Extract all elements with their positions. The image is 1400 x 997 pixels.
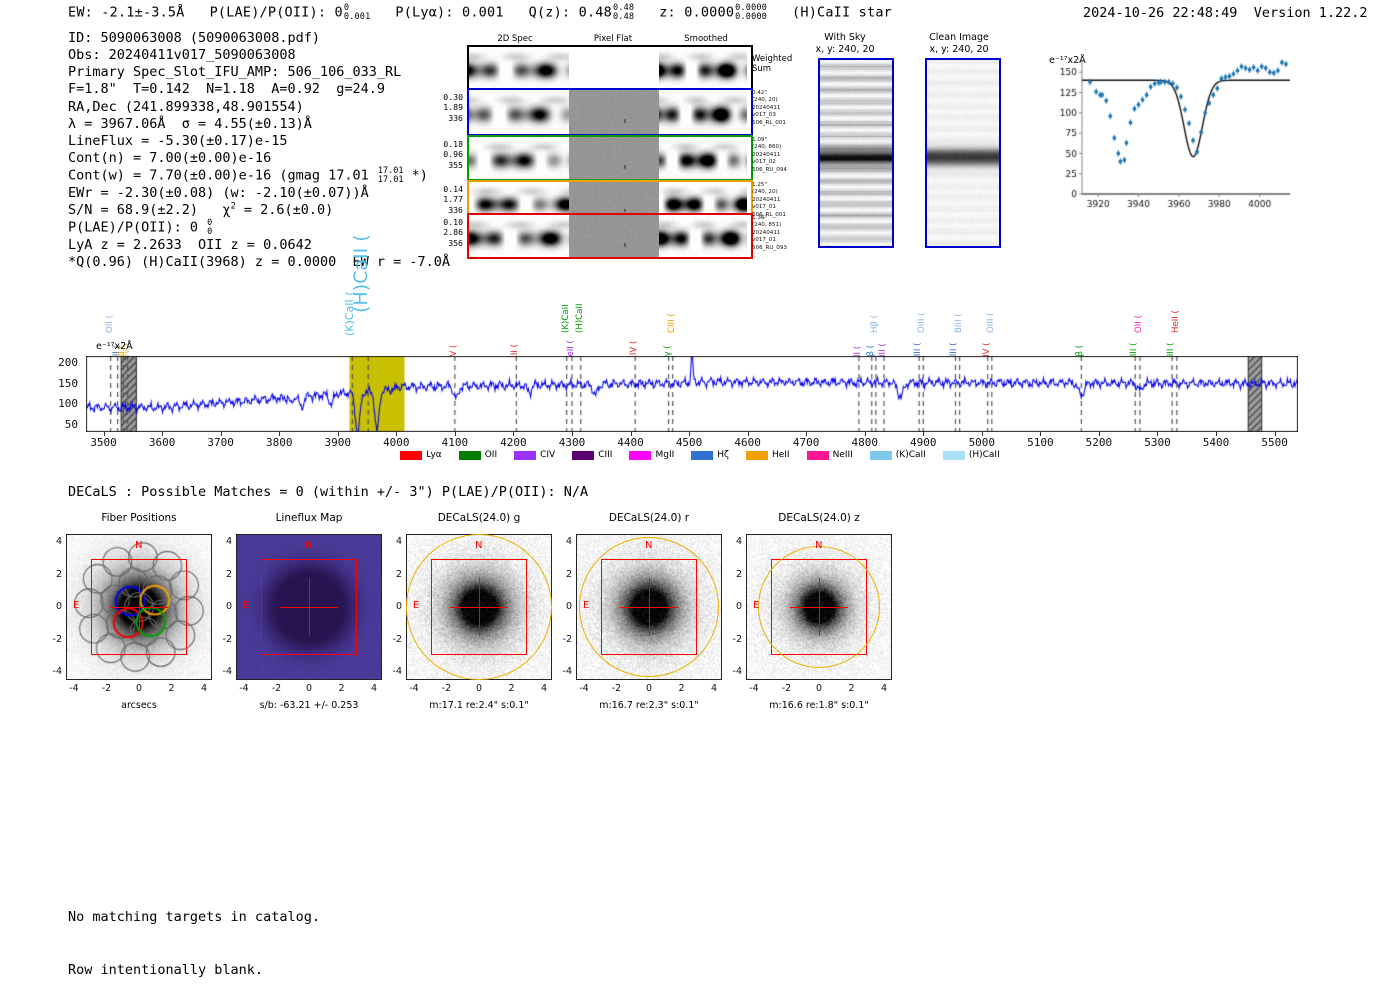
line-fit-plot	[1040, 48, 1298, 220]
decals-x-tick: 4	[873, 683, 895, 694]
legend-swatch	[746, 451, 768, 460]
spectrum-x-tick: 4300	[553, 436, 591, 449]
spectrum-x-tick: 5200	[1080, 436, 1118, 449]
decals-crosshair-v	[139, 578, 140, 636]
decals-panel-title: DECaLS(24.0) r	[569, 512, 729, 524]
header-datetime: 2024-10-26 22:48:49	[1083, 5, 1237, 21]
decals-panel-caption: m:16.6 re:1.8" s:0.1"	[719, 700, 919, 711]
legend-label: HeII	[772, 450, 790, 460]
spectrum-x-tick: 3600	[143, 436, 181, 449]
footer-line-2: Row intentionally blank.	[68, 962, 320, 980]
spectrum-x-tick: 5300	[1138, 436, 1176, 449]
twod-right-meta: 1.25"(240, 20)20240411v017_01506_RL_001	[752, 182, 812, 219]
decals-panel-title: DECaLS(24.0) z	[739, 512, 899, 524]
legend-label: (K)CaII	[896, 450, 926, 460]
header-z-label: z:	[659, 5, 676, 21]
decals-y-tick: 2	[212, 569, 232, 580]
decals-x-tick: 2	[671, 683, 693, 694]
spectrum-y-tick: 100	[58, 397, 78, 410]
legend-label: NeIII	[833, 450, 853, 460]
decals-y-tick: 4	[212, 536, 232, 547]
header-z-script: 0.00000.0000	[735, 4, 767, 21]
emission-line-label: HeII (	[1171, 310, 1181, 333]
info-obs: Obs: 20240411v017_5090063008	[68, 47, 450, 64]
decals-x-tick: 2	[161, 683, 183, 694]
header-summary-line: EW: -2.1±-3.5Å P(LAE)/P(OII): 000.001 P(…	[68, 4, 892, 21]
decals-y-tick: -4	[42, 666, 62, 677]
header-qz-value: 0.48	[579, 5, 612, 21]
spectrum-x-tick: 5500	[1256, 436, 1294, 449]
legend-item: MgII	[629, 450, 674, 460]
header-ew: EW: -2.1±-3.5Å	[68, 5, 185, 21]
decals-x-tick: -2	[266, 683, 288, 694]
spectrum-x-tick: 5100	[1021, 436, 1059, 449]
header-qz-script: 0.480.48	[613, 4, 634, 21]
decals-y-tick: 0	[382, 601, 402, 612]
twod-right-meta: 1.36"(240, 851)20240411v017_01506_RU_093	[752, 215, 812, 252]
legend-swatch	[629, 451, 651, 460]
info-ewr: EWr = -2.30(±0.08) (w: -2.10(±0.07))Å	[68, 185, 450, 202]
decals-x-tick: -4	[233, 683, 255, 694]
decals-x-tick: 0	[298, 683, 320, 694]
info-cont-n: Cont(n) = 7.00(±0.00)e-16	[68, 150, 450, 167]
emission-line-label: (K)CaII	[561, 304, 571, 333]
spectrum-legend: LyαOIICIVCIIIMgIIHζHeIINeIII(K)CaII(H)Ca…	[0, 450, 1400, 460]
info-lineflux: LineFlux = -5.30(±0.17)e-15	[68, 133, 450, 150]
decals-x-tick: 0	[128, 683, 150, 694]
decals-y-tick: 0	[552, 601, 572, 612]
footer-message: No matching targets in catalog. Row inte…	[68, 874, 320, 997]
info-plae-poii: P(LAE)/P(OII): 0 00	[68, 219, 450, 237]
legend-item: (K)CaII	[870, 450, 926, 460]
header-plae-value: 0	[335, 5, 343, 21]
footer-line-1: No matching targets in catalog.	[68, 909, 320, 927]
fit-plot-yunit: e⁻¹⁷x2Å	[1049, 55, 1086, 66]
header-plae-label: P(LAE)/P(OII):	[210, 5, 327, 21]
emission-line-label: OII (	[1134, 315, 1144, 333]
decals-y-tick: -2	[552, 634, 572, 645]
decals-east-label: E	[753, 600, 759, 611]
decals-x-tick: 0	[638, 683, 660, 694]
emission-line-label: OIII (	[917, 313, 927, 333]
spectrum-x-tick: 5000	[963, 436, 1001, 449]
decals-y-tick: 0	[212, 601, 232, 612]
twod-strip	[467, 135, 753, 181]
decals-x-tick: 2	[501, 683, 523, 694]
decals-x-tick: -4	[63, 683, 85, 694]
spectrum-x-tick: 3500	[85, 436, 123, 449]
info-seeing: F=1.8" T=0.142 N=1.18 A=0.92 g=24.9	[68, 81, 450, 98]
header-classification: (H)CaII star	[792, 5, 892, 21]
legend-label: MgII	[655, 450, 674, 460]
twod-strip	[467, 88, 753, 136]
twod-col-title-2dspec: 2D Spec	[470, 34, 560, 44]
legend-swatch	[807, 451, 829, 460]
legend-item: OII	[459, 450, 497, 460]
emission-line-label: OII (	[105, 315, 115, 333]
decals-x-tick: 4	[193, 683, 215, 694]
emission-line-labels: OII (OII (OII (CIV ((K)CaII ((H)CaII (NV…	[0, 255, 1400, 355]
header-timestamp-version: 2024-10-26 22:48:49 Version 1.22.2	[1083, 5, 1368, 21]
decals-x-tick: 4	[363, 683, 385, 694]
decals-x-tick: -2	[776, 683, 798, 694]
decals-y-tick: 2	[722, 569, 742, 580]
decals-x-tick: -4	[573, 683, 595, 694]
info-cont-w: Cont(w) = 7.70(±0.00)e-16 (gmag 17.01 17…	[68, 167, 450, 185]
decals-panel-title: DECaLS(24.0) g	[399, 512, 559, 524]
legend-label: CIII	[598, 450, 612, 460]
emission-line-label: OIII (	[986, 313, 996, 333]
decals-y-tick: -2	[382, 634, 402, 645]
info-primary-spec: Primary Spec_Slot_IFU_AMP: 506_106_033_R…	[68, 64, 450, 81]
decals-east-label: E	[73, 600, 79, 611]
cutout-withsky-title: With Skyx, y: 240, 20	[790, 32, 900, 55]
decals-east-label: E	[583, 600, 589, 611]
cutout-clean-image	[925, 58, 1001, 248]
legend-swatch	[514, 451, 536, 460]
decals-north-label: N	[475, 540, 482, 551]
legend-item: CIII	[572, 450, 612, 460]
header-plya-value: 0.001	[462, 5, 504, 21]
decals-x-tick: -2	[606, 683, 628, 694]
legend-swatch	[870, 451, 892, 460]
spectrum-y-tick: 150	[58, 377, 78, 390]
source-info-block: ID: 5090063008 (5090063008.pdf) Obs: 202…	[68, 30, 450, 272]
decals-x-tick: -2	[96, 683, 118, 694]
decals-x-tick: 4	[703, 683, 725, 694]
cutout-clean-title: Clean Imagex, y: 240, 20	[900, 32, 1018, 55]
decals-crosshair-v	[309, 578, 310, 636]
decals-y-tick: 0	[42, 601, 62, 612]
decals-y-tick: 4	[722, 536, 742, 547]
decals-x-tick: -4	[743, 683, 765, 694]
decals-y-tick: -4	[382, 666, 402, 677]
info-sn-chi2: S/N = 68.9(±2.2) χ2 = 2.6(±0.0)	[68, 202, 450, 219]
decals-y-tick: -2	[212, 634, 232, 645]
emission-line-label: CIII (	[667, 313, 677, 333]
legend-label: Lyα	[426, 450, 441, 460]
legend-item: CIV	[514, 450, 555, 460]
legend-item: (H)CaII	[943, 450, 1000, 460]
spectrum-y-tick: 50	[65, 418, 78, 431]
cutout-withsky-image	[818, 58, 894, 248]
spectrum-y-ticks: 50100150200	[0, 356, 86, 432]
spectrum-x-tick: 4100	[436, 436, 474, 449]
decals-y-tick: 2	[382, 569, 402, 580]
legend-item: Hζ	[691, 450, 729, 460]
twod-col-title-smoothed: Smoothed	[661, 34, 751, 44]
header-z-value: 0.0000	[684, 5, 734, 21]
spectrum-yunit: e⁻¹⁷x2Å	[96, 341, 133, 352]
decals-east-label: E	[243, 600, 249, 611]
decals-y-tick: 2	[42, 569, 62, 580]
spectrum-x-tick: 3700	[202, 436, 240, 449]
emission-line-label: BIII (	[954, 313, 964, 333]
header-plae-script: 00.001	[344, 4, 371, 21]
decals-y-tick: 4	[382, 536, 402, 547]
decals-north-label: N	[815, 540, 822, 551]
decals-x-tick: -4	[403, 683, 425, 694]
decals-east-label: E	[413, 600, 419, 611]
decals-effective-radius-ellipse	[579, 537, 719, 677]
twod-weighted-sum-strip	[467, 45, 753, 91]
spectrum-x-tick: 4800	[846, 436, 884, 449]
decals-x-tick: 0	[468, 683, 490, 694]
emission-line-label: (H)CaII (	[350, 234, 372, 313]
decals-effective-radius-ellipse	[406, 534, 552, 680]
info-redshifts: LyA z = 2.2633 OII z = 0.0642	[68, 237, 450, 254]
spectrum-x-tick: 4600	[729, 436, 767, 449]
decals-x-tick: 0	[808, 683, 830, 694]
decals-panel-title: Fiber Positions	[59, 512, 219, 524]
legend-swatch	[943, 451, 965, 460]
legend-label: OII	[485, 450, 497, 460]
decals-y-tick: 4	[42, 536, 62, 547]
decals-x-tick: 2	[841, 683, 863, 694]
info-id: ID: 5090063008 (5090063008.pdf)	[68, 30, 450, 47]
twod-weighted-sum-label: Weighted Sum	[752, 54, 792, 74]
spectrum-x-tick: 4200	[494, 436, 532, 449]
decals-y-tick: -4	[212, 666, 232, 677]
decals-north-label: N	[305, 540, 312, 551]
emission-line-label: Hβ (	[870, 315, 880, 333]
twod-right-meta: 0.42"(240, 20)20240411v017_03506_RL_001	[752, 90, 812, 127]
legend-swatch	[691, 451, 713, 460]
decals-x-tick: -2	[436, 683, 458, 694]
header-plya-label: P(Lyα):	[395, 5, 453, 21]
decals-north-label: N	[135, 540, 142, 551]
full-spectrum-plot	[86, 356, 1298, 432]
decals-y-tick: -2	[722, 634, 742, 645]
twod-right-meta: 1.09"(240, 860)20240411v017_02506_RU_094	[752, 137, 812, 174]
twod-strip	[467, 213, 753, 259]
twod-left-values: 0.102.86356	[425, 217, 463, 248]
decals-y-tick: -2	[42, 634, 62, 645]
legend-item: NeIII	[807, 450, 853, 460]
twod-left-values: 0.180.96355	[425, 139, 463, 170]
decals-panel-title: Lineflux Map	[229, 512, 389, 524]
decals-y-tick: 0	[722, 601, 742, 612]
legend-item: HeII	[746, 450, 790, 460]
decals-header: DECaLS : Possible Matches = 0 (within +/…	[68, 484, 588, 500]
decals-y-tick: 4	[552, 536, 572, 547]
header-version: Version 1.22.2	[1254, 5, 1368, 21]
spectrum-x-tick: 3900	[319, 436, 357, 449]
info-wavelength: λ = 3967.06Å σ = 4.55(±0.13)Å	[68, 116, 450, 133]
emission-line-label: (H)CaII	[575, 303, 585, 333]
spectrum-x-tick: 4000	[377, 436, 415, 449]
header-qz-label: Q(z):	[529, 5, 571, 21]
legend-swatch	[572, 451, 594, 460]
legend-item: Lyα	[400, 450, 441, 460]
legend-swatch	[400, 451, 422, 460]
spectrum-x-tick: 5400	[1197, 436, 1235, 449]
decals-x-tick: 2	[331, 683, 353, 694]
spectrum-x-tick: 4500	[670, 436, 708, 449]
twod-col-title-pixelflat: Pixel Flat	[568, 34, 658, 44]
decals-y-tick: -4	[552, 666, 572, 677]
spectrum-x-tick: 4900	[904, 436, 942, 449]
twod-left-values: 0.301.89336	[425, 92, 463, 123]
decals-effective-radius-ellipse	[758, 546, 881, 669]
spectrum-x-tick: 4400	[612, 436, 650, 449]
legend-label: (H)CaII	[969, 450, 1000, 460]
legend-label: CIV	[540, 450, 555, 460]
decals-y-tick: 2	[552, 569, 572, 580]
spectrum-y-tick: 200	[58, 356, 78, 369]
twod-left-values: 0.141.77336	[425, 184, 463, 215]
decals-x-tick: 4	[533, 683, 555, 694]
spectrum-x-tick: 3800	[260, 436, 298, 449]
legend-label: Hζ	[717, 450, 729, 460]
decals-y-tick: -4	[722, 666, 742, 677]
legend-swatch	[459, 451, 481, 460]
spectrum-x-tick: 4700	[787, 436, 825, 449]
info-radec: RA,Dec (241.899338,48.901554)	[68, 99, 450, 116]
spectrum-x-ticks: 3500360037003800390040004100420043004400…	[0, 432, 1400, 448]
decals-north-label: N	[645, 540, 652, 551]
